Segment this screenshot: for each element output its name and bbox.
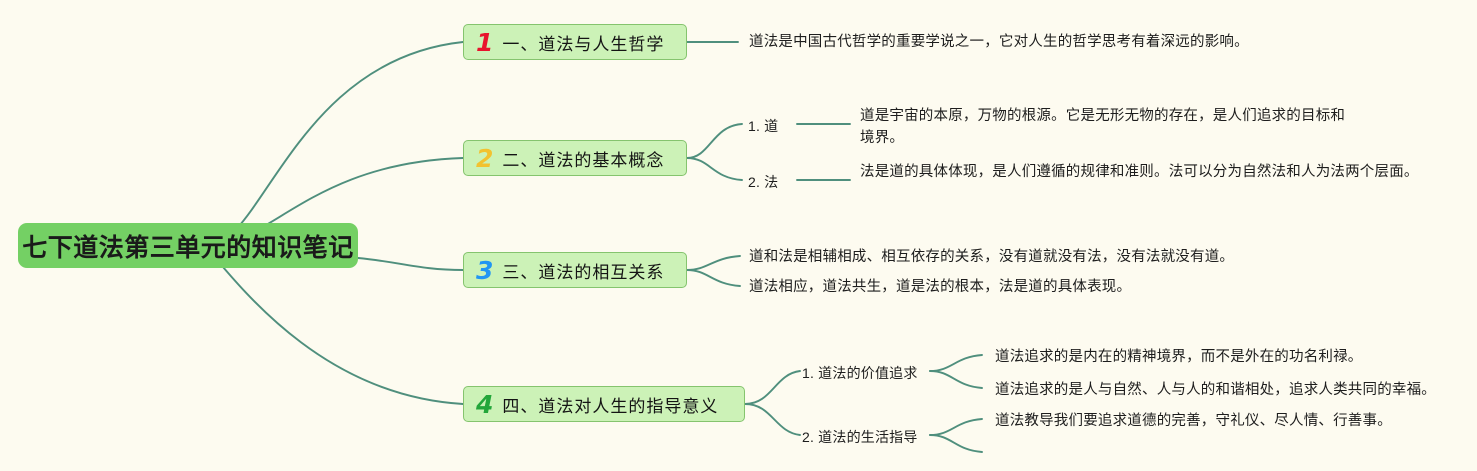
edge-root-to-branch-1 bbox=[207, 42, 463, 246]
branch-node-4[interactable]: 4 四、道法对人生的指导意义 bbox=[463, 386, 745, 422]
branch-1-number-badge: 1 bbox=[476, 30, 493, 55]
edge-root-to-branch-4 bbox=[207, 248, 463, 404]
mindmap-canvas: 七下道法第三单元的知识笔记 1 一、道法与人生哲学 道法是中国古代哲学的重要学说… bbox=[0, 0, 1477, 471]
edge-sub-value-to-leaf-2 bbox=[930, 371, 982, 388]
edge-branch-3-to-leaf-1 bbox=[687, 256, 740, 270]
branch-node-3[interactable]: 3 三、道法的相互关系 bbox=[463, 252, 687, 288]
sub-label-2-2: 2. 法 bbox=[748, 172, 778, 192]
sub-label-2-1: 1. 道 bbox=[748, 116, 778, 136]
leaf-4-1-2: 道法追求的是人与自然、人与人的和谐相处，追求人类共同的幸福。 bbox=[995, 379, 1465, 401]
edge-sub-life-to-leaf-1 bbox=[930, 419, 982, 435]
edge-branch-2-to-sub-1 bbox=[687, 124, 742, 158]
branch-3-title: 三、道法的相互关系 bbox=[502, 258, 664, 283]
branch-2-title: 二、道法的基本概念 bbox=[502, 146, 664, 171]
edge-branch-4-to-sub-1 bbox=[745, 371, 800, 404]
leaf-3-1: 道和法是相辅相成、相互依存的关系，没有道就没有法，没有法就没有道。 bbox=[749, 246, 1269, 268]
branch-3-number-badge: 3 bbox=[476, 258, 493, 283]
leaf-1-1: 道法是中国古代哲学的重要学说之一，它对人生的哲学思考有着深远的影响。 bbox=[749, 31, 1249, 53]
edge-branch-4-to-sub-2 bbox=[745, 404, 800, 435]
edge-branch-2-to-sub-2 bbox=[687, 158, 742, 180]
root-node[interactable]: 七下道法第三单元的知识笔记 bbox=[18, 223, 358, 268]
leaf-2-2: 法是道的具体体现，是人们遵循的规律和准则。法可以分为自然法和人为法两个层面。 bbox=[860, 161, 1420, 183]
branch-4-title: 四、道法对人生的指导意义 bbox=[502, 392, 718, 417]
edge-sub-life-to-leaf-2 bbox=[930, 435, 982, 452]
edge-root-to-branch-3 bbox=[358, 258, 463, 270]
branch-node-1[interactable]: 1 一、道法与人生哲学 bbox=[463, 24, 687, 60]
leaf-4-1-1: 道法追求的是内在的精神境界，而不是外在的功名利禄。 bbox=[995, 346, 1465, 368]
leaf-4-2-1: 道法教导我们要追求道德的完善，守礼仪、尽人情、行善事。 bbox=[995, 410, 1465, 432]
sub-label-4-2: 2. 道法的生活指导 bbox=[802, 427, 918, 447]
branch-1-title: 一、道法与人生哲学 bbox=[502, 30, 664, 55]
branch-2-number-badge: 2 bbox=[476, 146, 493, 171]
root-node-label: 七下道法第三单元的知识笔记 bbox=[22, 228, 354, 264]
branch-4-number-badge: 4 bbox=[476, 392, 493, 417]
sub-label-4-1: 1. 道法的价值追求 bbox=[802, 363, 918, 383]
branch-node-2[interactable]: 2 二、道法的基本概念 bbox=[463, 140, 687, 176]
edge-sub-value-to-leaf-1 bbox=[930, 355, 982, 371]
leaf-3-2: 道法相应，道法共生，道是法的根本，法是道的具体表现。 bbox=[749, 276, 1269, 298]
edge-branch-3-to-leaf-2 bbox=[687, 270, 740, 286]
leaf-2-1: 道是宇宙的本原，万物的根源。它是无形无物的存在，是人们追求的目标和境界。 bbox=[860, 105, 1352, 149]
